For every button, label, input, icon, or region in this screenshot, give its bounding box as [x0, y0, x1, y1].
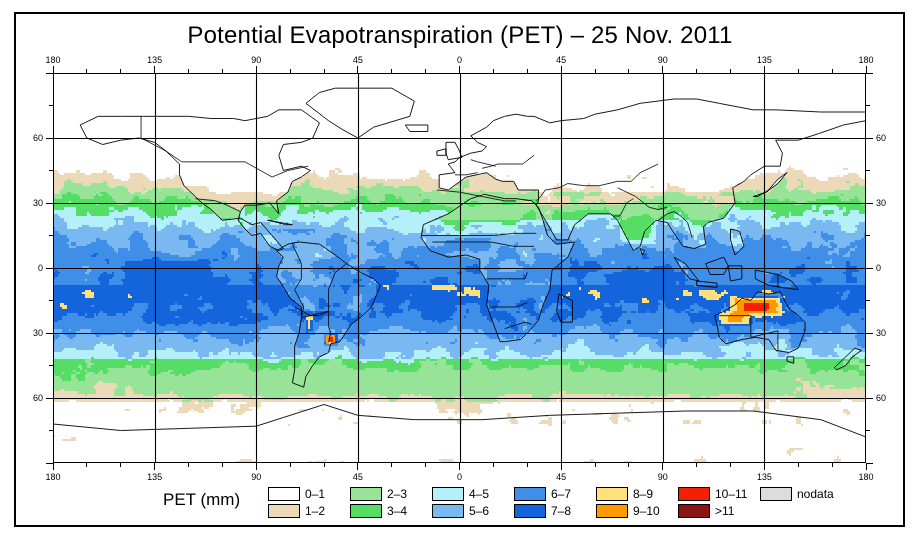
lat-axis-label-left: 60 — [33, 393, 43, 403]
map-plot-area[interactable] — [53, 73, 866, 463]
lat-tick — [49, 300, 53, 301]
lon-tick — [764, 66, 765, 73]
lat-tick — [49, 235, 53, 236]
legend-swatch — [514, 504, 546, 518]
lon-tick — [256, 66, 257, 73]
legend-entry: 4–5 — [432, 486, 489, 501]
lat-tick — [866, 430, 870, 431]
lon-tick — [154, 463, 155, 470]
lon-tick — [120, 69, 121, 73]
lon-tick — [561, 66, 562, 73]
lon-tick — [866, 463, 867, 470]
legend-swatch — [596, 504, 628, 518]
legend-label: 10–11 — [715, 488, 747, 500]
figure-root: Potential Evapotranspiration (PET) – 25 … — [0, 0, 920, 539]
lon-tick — [527, 69, 528, 73]
lon-tick — [696, 463, 697, 467]
lat-axis-label-right: 60 — [876, 133, 886, 143]
lon-tick — [256, 463, 257, 470]
legend-entry: 6–7 — [514, 486, 571, 501]
lon-tick — [188, 463, 189, 467]
lon-tick — [832, 463, 833, 467]
lon-axis-label-top: 180 — [858, 55, 873, 65]
legend: PET (mm) 0–11–22–33–44–55–66–77–88–99–10… — [53, 482, 866, 522]
lon-tick — [391, 463, 392, 467]
lon-tick — [120, 463, 121, 467]
lon-tick — [357, 66, 358, 73]
lon-axis-label-bottom: 45 — [353, 472, 363, 482]
lon-tick — [324, 463, 325, 467]
lon-tick — [662, 463, 663, 470]
lon-axis-label-top: 45 — [353, 55, 363, 65]
legend-entry: 7–8 — [514, 503, 571, 518]
lon-tick — [628, 69, 629, 73]
lon-tick — [832, 69, 833, 73]
lon-tick — [696, 69, 697, 73]
legend-label: nodata — [797, 488, 834, 500]
lat-tick — [49, 105, 53, 106]
lat-tick — [866, 170, 870, 171]
pet-world-map-heatmap[interactable] — [53, 73, 866, 463]
legend-label: 1–2 — [305, 505, 325, 517]
lat-tick — [866, 463, 873, 464]
lon-tick — [798, 69, 799, 73]
legend-entry: 9–10 — [596, 503, 660, 518]
legend-label: 9–10 — [633, 505, 660, 517]
legend-entry: 2–3 — [350, 486, 407, 501]
lon-axis-label-bottom: 90 — [658, 472, 668, 482]
legend-entry: nodata — [760, 486, 834, 501]
lon-tick — [86, 463, 87, 467]
lon-tick — [53, 463, 54, 470]
lat-axis-label-right: 30 — [876, 198, 886, 208]
lat-tick — [46, 268, 53, 269]
legend-title: PET (mm) — [163, 490, 240, 510]
lon-axis-label-bottom: 135 — [757, 472, 772, 482]
lon-tick — [357, 463, 358, 470]
lat-tick — [46, 203, 53, 204]
legend-label: 2–3 — [387, 488, 407, 500]
lat-tick — [46, 333, 53, 334]
lon-tick — [798, 463, 799, 467]
lon-tick — [86, 69, 87, 73]
legend-label: 0–1 — [305, 488, 325, 500]
lon-tick — [290, 69, 291, 73]
lat-tick — [866, 365, 870, 366]
lon-axis-label-top: 135 — [757, 55, 772, 65]
lon-tick — [425, 463, 426, 467]
legend-entry: 5–6 — [432, 503, 489, 518]
legend-entry: 8–9 — [596, 486, 653, 501]
legend-label: 8–9 — [633, 488, 653, 500]
lon-axis-label-top: 90 — [658, 55, 668, 65]
lat-axis-label-right: 60 — [876, 393, 886, 403]
legend-swatch — [432, 504, 464, 518]
lat-tick — [866, 235, 870, 236]
lon-tick — [595, 69, 596, 73]
legend-label: 3–4 — [387, 505, 407, 517]
lon-axis-label-top: 0 — [457, 55, 462, 65]
lon-tick — [154, 66, 155, 73]
lon-tick — [290, 463, 291, 467]
legend-label: >11 — [715, 505, 734, 517]
lon-tick — [459, 463, 460, 470]
lat-axis-label-left: 30 — [33, 328, 43, 338]
legend-label: 6–7 — [551, 488, 571, 500]
lon-tick — [391, 69, 392, 73]
lat-axis-label-left: 60 — [33, 133, 43, 143]
lon-tick — [493, 69, 494, 73]
lon-tick — [595, 463, 596, 467]
legend-label: 4–5 — [469, 488, 489, 500]
lon-tick — [527, 463, 528, 467]
lon-tick — [662, 66, 663, 73]
lat-tick — [49, 170, 53, 171]
legend-swatch — [268, 487, 300, 501]
lat-tick — [866, 73, 873, 74]
lon-tick — [324, 69, 325, 73]
legend-swatch — [432, 487, 464, 501]
lon-tick — [459, 66, 460, 73]
lon-tick — [425, 69, 426, 73]
lon-tick — [188, 69, 189, 73]
lon-tick — [730, 463, 731, 467]
legend-swatch — [596, 487, 628, 501]
legend-swatch — [678, 487, 710, 501]
lat-axis-label-left: 30 — [33, 198, 43, 208]
lat-tick — [866, 105, 870, 106]
legend-entry: 10–11 — [678, 486, 747, 501]
lon-axis-label-top: 180 — [45, 55, 60, 65]
lon-axis-label-top: 90 — [251, 55, 261, 65]
lat-tick — [866, 203, 873, 204]
legend-entry: >11 — [678, 503, 734, 518]
lat-tick — [866, 333, 873, 334]
lon-axis-label-top: 45 — [556, 55, 566, 65]
legend-swatch — [350, 504, 382, 518]
lon-tick — [730, 69, 731, 73]
lon-tick — [493, 463, 494, 467]
lon-axis-label-bottom: 180 — [45, 472, 60, 482]
lon-tick — [222, 69, 223, 73]
legend-entry: 0–1 — [268, 486, 325, 501]
lat-tick — [866, 398, 873, 399]
legend-label: 7–8 — [551, 505, 571, 517]
lat-axis-label-left: 0 — [38, 263, 43, 273]
lat-tick — [866, 300, 870, 301]
lon-axis-label-bottom: 90 — [251, 472, 261, 482]
lon-axis-label-bottom: 135 — [147, 472, 162, 482]
lon-axis-label-bottom: 180 — [858, 472, 873, 482]
lon-tick — [764, 463, 765, 470]
lat-tick — [46, 138, 53, 139]
lat-tick — [49, 430, 53, 431]
legend-swatch — [760, 487, 792, 501]
lat-tick — [49, 365, 53, 366]
legend-swatch — [678, 504, 710, 518]
lat-tick — [46, 463, 53, 464]
legend-label: 5–6 — [469, 505, 489, 517]
lat-axis-label-right: 30 — [876, 328, 886, 338]
lon-tick — [561, 463, 562, 470]
lat-tick — [866, 138, 873, 139]
lon-axis-label-bottom: 0 — [457, 472, 462, 482]
lon-tick — [222, 463, 223, 467]
lat-tick — [866, 268, 873, 269]
lat-axis-label-right: 0 — [876, 263, 881, 273]
lon-tick — [628, 463, 629, 467]
legend-swatch — [268, 504, 300, 518]
lat-tick — [46, 73, 53, 74]
lon-axis-label-bottom: 45 — [556, 472, 566, 482]
legend-swatch — [514, 487, 546, 501]
page-title: Potential Evapotranspiration (PET) – 25 … — [0, 22, 920, 50]
lon-axis-label-top: 135 — [147, 55, 162, 65]
legend-entry: 1–2 — [268, 503, 325, 518]
legend-swatch — [350, 487, 382, 501]
legend-entry: 3–4 — [350, 503, 407, 518]
lat-tick — [46, 398, 53, 399]
